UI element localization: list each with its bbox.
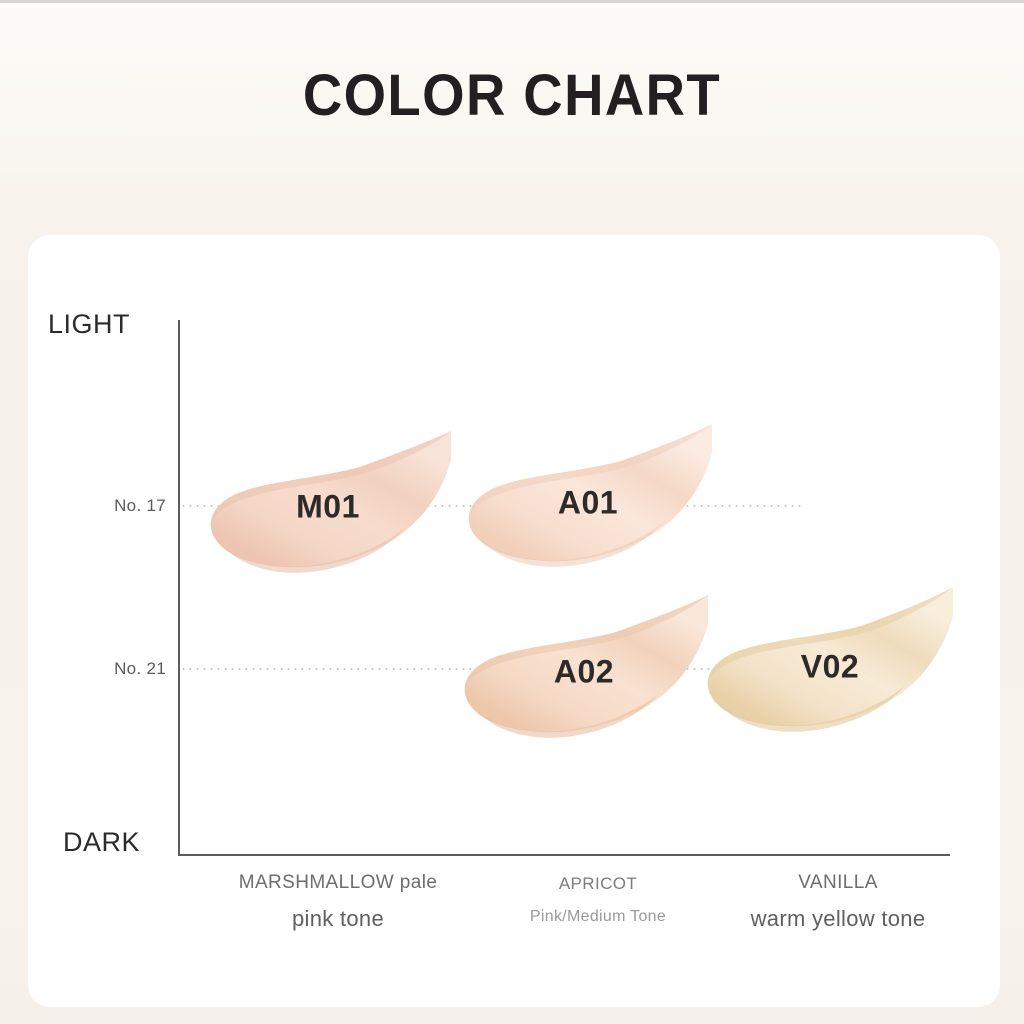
swatch-label-a01: A01 (558, 485, 618, 522)
page-title: COLOR CHART (31, 62, 994, 129)
page-background: COLOR CHART LIGHT DARK No. 17 No. 21 (0, 0, 1024, 1024)
swatch-label-m01: M01 (296, 489, 360, 526)
category-vanilla: VANILLA warm yellow tone (688, 872, 988, 932)
category-vanilla-line1: VANILLA (688, 872, 988, 894)
category-marshmallow: MARSHMALLOW pale pink tone (188, 872, 488, 932)
swatch-label-a02: A02 (554, 654, 614, 691)
y-axis-line (178, 320, 180, 856)
swatch-label-v02: V02 (801, 649, 859, 686)
y-tick-label-no17: No. 17 (46, 496, 166, 516)
category-marshmallow-line1: MARSHMALLOW pale (188, 872, 488, 894)
y-axis-bottom-label: DARK (63, 827, 140, 858)
top-divider (0, 0, 1024, 3)
y-axis-top-label: LIGHT (48, 309, 130, 340)
chart-plot-area: LIGHT DARK No. 17 No. 21 (28, 235, 1000, 1007)
x-axis-line (178, 854, 950, 856)
category-vanilla-line2: warm yellow tone (688, 906, 988, 932)
y-tick-label-no21: No. 21 (46, 659, 166, 679)
chart-card: LIGHT DARK No. 17 No. 21 (28, 235, 1000, 1007)
category-marshmallow-line2: pink tone (188, 906, 488, 932)
